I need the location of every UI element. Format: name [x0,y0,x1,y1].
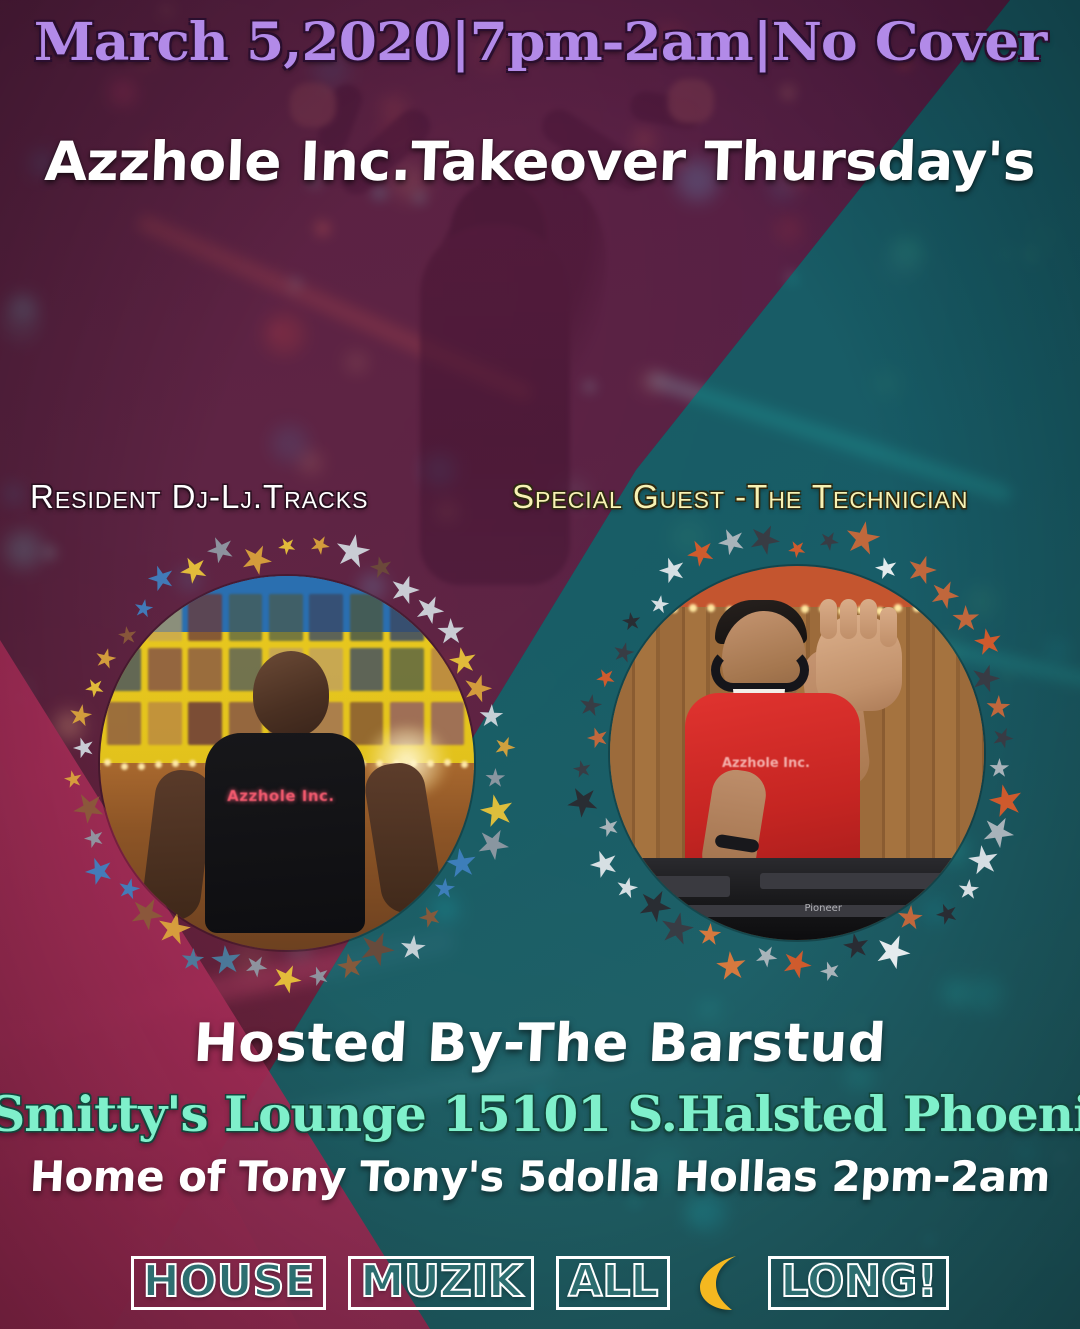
deck-panel-1 [632,876,729,897]
finger-4 [880,607,897,647]
guest-dj-photo-circle: Azzhole Inc. Pioneer [562,518,1032,988]
host-line: Hosted By-The Barstud [0,1013,1080,1074]
deck-panel-2 [760,873,954,889]
event-flyer: March 5,2020|7pm-2am|No Cover Azzhole In… [0,0,1080,1329]
dj1-shirt-text: Azzhole Inc. [223,785,338,807]
guest-dj-photo: Azzhole Inc. Pioneer [610,566,984,940]
event-title: Azzhole Inc.Takeover Thursday's [0,130,1080,193]
banner-chip-long: LONG! [768,1256,949,1311]
dj1-black-tshirt [205,733,365,933]
banner-chip-all: ALL [556,1256,670,1311]
date-time-cover-line: March 5,2020|7pm-2am|No Cover [0,12,1080,73]
finger-1 [820,599,837,639]
crescent-moon-icon [692,1254,746,1312]
special-guest-label: Special Guest -The Technician [512,478,969,516]
dj2-headphones [711,648,809,692]
bottom-banner: HOUSE MUZIK ALL LONG! [0,1254,1080,1312]
mixer-brand-label: Pioneer [804,903,841,914]
resident-dj-label: Resident Dj-Lj.Tracks [30,478,368,516]
venue-address-line: Smitty's Lounge 15101 S.Halsted Phoenix,… [0,1085,1080,1143]
deck-panel-3 [647,905,946,917]
banner-chip-house: HOUSE [131,1256,327,1311]
dj1-head [253,651,329,737]
resident-dj-photo-circle: Azzhole Inc. [52,528,522,998]
specials-line: Home of Tony Tony's 5dolla Hollas 2pm-2a… [0,1152,1080,1201]
finger-2 [840,599,857,639]
finger-3 [860,599,877,639]
resident-dj-photo: Azzhole Inc. [100,576,474,950]
banner-chip-muzik: MUZIK [348,1256,534,1311]
dj-mixer-deck [610,858,984,940]
